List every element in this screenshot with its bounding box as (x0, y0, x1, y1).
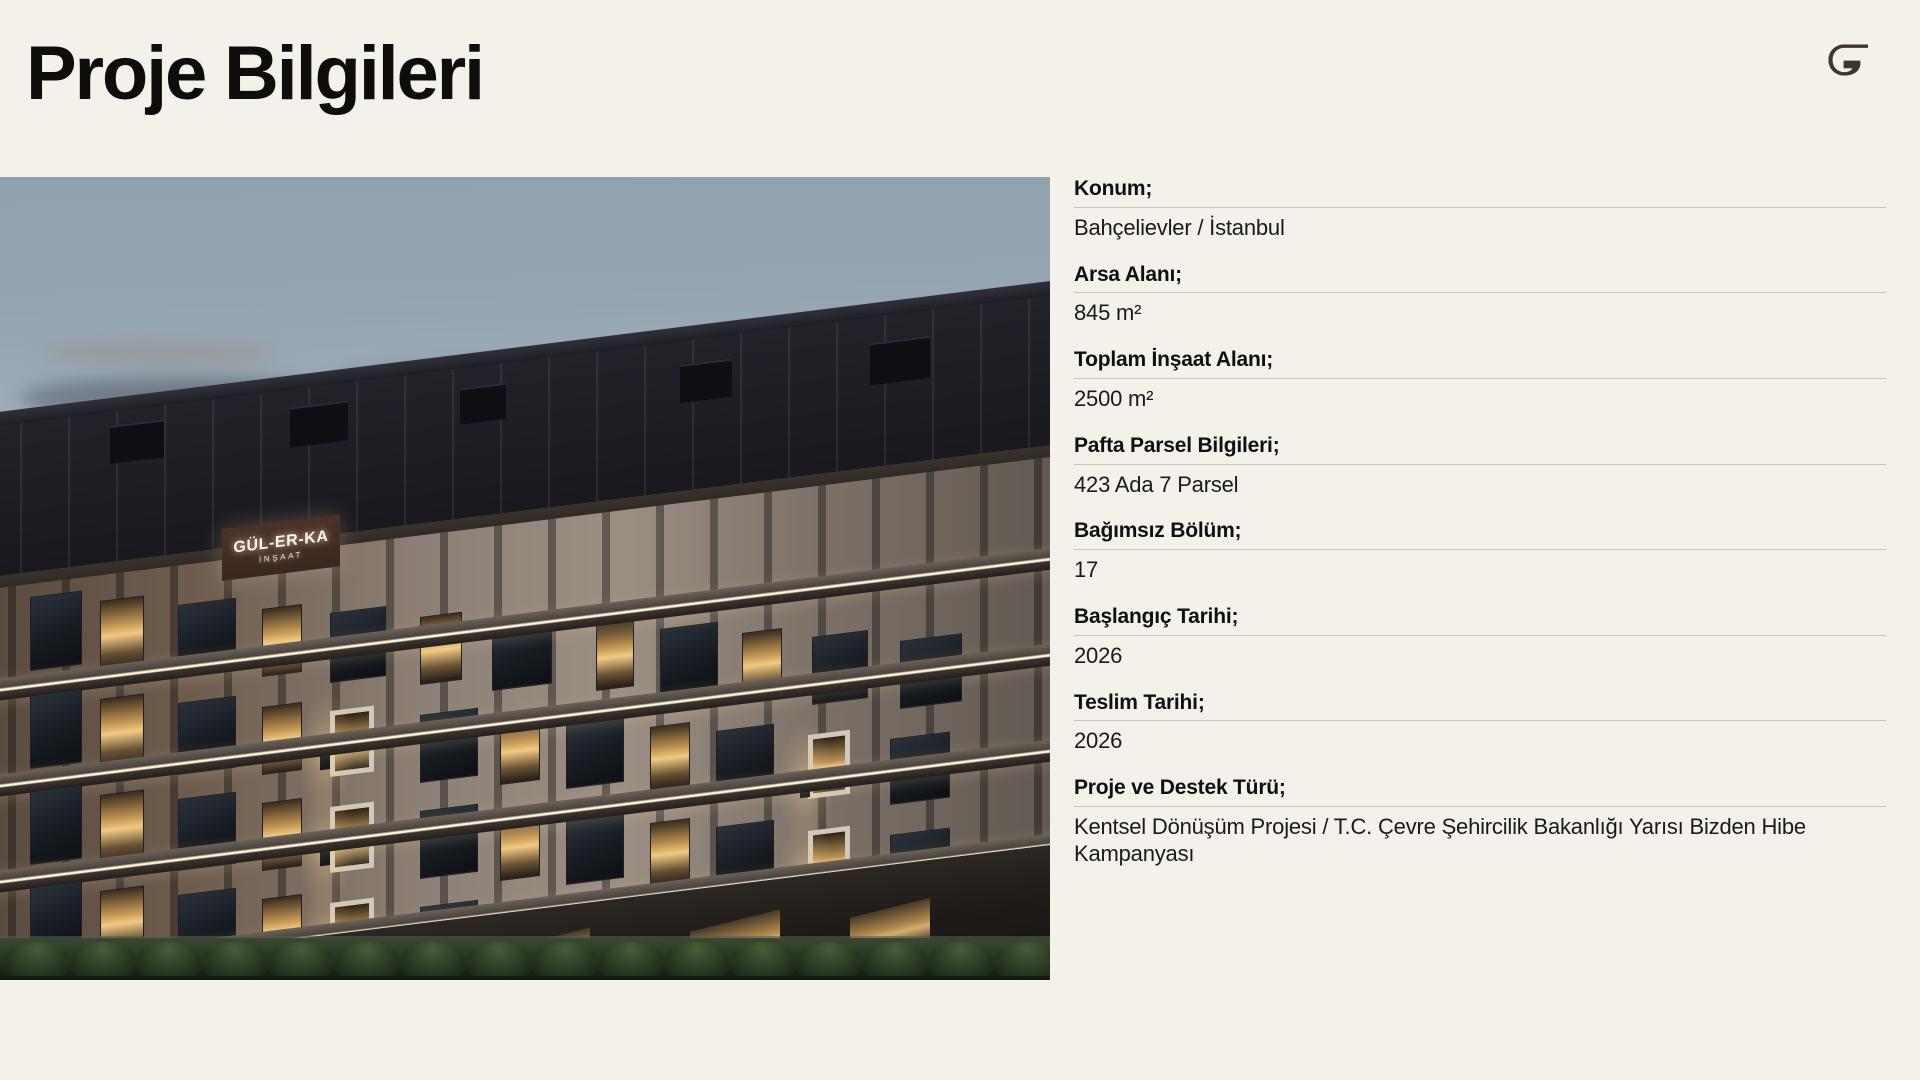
info-divider (1074, 378, 1886, 379)
info-value: 2500 m² (1074, 386, 1886, 413)
info-label: Pafta Parsel Bilgileri; (1074, 434, 1886, 464)
info-value: 2026 (1074, 643, 1886, 670)
info-divider (1074, 292, 1886, 293)
info-value: 845 m² (1074, 300, 1886, 327)
page-title: Proje Bilgileri (26, 36, 483, 112)
info-label: Toplam İnşaat Alanı; (1074, 348, 1886, 378)
info-divider (1074, 806, 1886, 807)
info-label: Bağımsız Bölüm; (1074, 519, 1886, 549)
info-row-baslangic-tarihi: Başlangıç Tarihi; 2026 (1074, 605, 1886, 670)
building: GÜL-ER-KA İNŞAAT (0, 177, 1050, 980)
info-divider (1074, 207, 1886, 208)
info-value: Bahçelievler / İstanbul (1074, 215, 1886, 242)
info-row-konum: Konum; Bahçelievler / İstanbul (1074, 177, 1886, 242)
info-row-pafta-parsel-bilgileri: Pafta Parsel Bilgileri; 423 Ada 7 Parsel (1074, 434, 1886, 499)
info-label: Teslim Tarihi; (1074, 691, 1886, 721)
g-logo (1815, 31, 1873, 89)
info-value: 17 (1074, 557, 1886, 584)
info-label: Başlangıç Tarihi; (1074, 605, 1886, 635)
info-row-toplam-insaat-alani: Toplam İnşaat Alanı; 2500 m² (1074, 348, 1886, 413)
info-row-teslim-tarihi: Teslim Tarihi; 2026 (1074, 691, 1886, 756)
info-label: Konum; (1074, 177, 1886, 207)
info-value: 2026 (1074, 728, 1886, 755)
project-render-image: GÜL-ER-KA İNŞAAT (0, 177, 1050, 980)
info-divider (1074, 635, 1886, 636)
project-info-panel: Konum; Bahçelievler / İstanbul Arsa Alan… (1074, 177, 1886, 868)
info-label: Arsa Alanı; (1074, 263, 1886, 293)
info-row-bagimsiz-bolum: Bağımsız Bölüm; 17 (1074, 519, 1886, 584)
info-row-arsa-alani: Arsa Alanı; 845 m² (1074, 263, 1886, 328)
info-divider (1074, 549, 1886, 550)
info-label: Proje ve Destek Türü; (1074, 776, 1886, 806)
page-header: Proje Bilgileri (0, 0, 1920, 177)
info-row-proje-ve-destek-turu: Proje ve Destek Türü; Kentsel Dönüşüm Pr… (1074, 776, 1886, 867)
info-divider (1074, 464, 1886, 465)
info-divider (1074, 720, 1886, 721)
info-value: 423 Ada 7 Parsel (1074, 472, 1886, 499)
hedge-row (0, 938, 1050, 980)
info-value: Kentsel Dönüşüm Projesi / T.C. Çevre Şeh… (1074, 814, 1886, 868)
